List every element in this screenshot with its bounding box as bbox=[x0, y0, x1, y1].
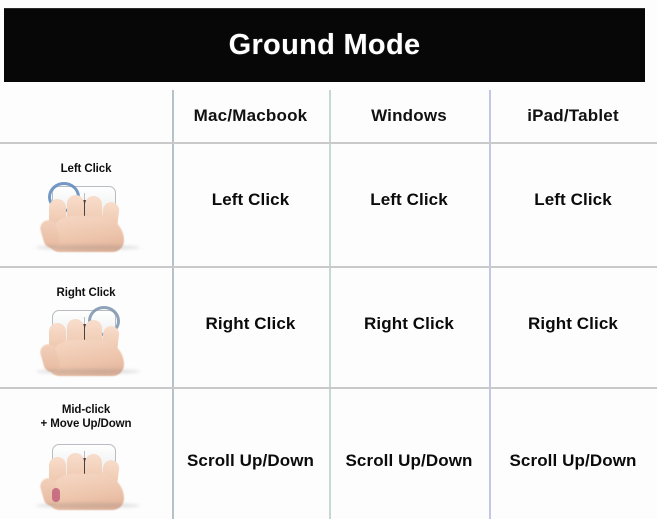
cell-mac: Left Click bbox=[172, 144, 329, 266]
hand-on-mouse-middle-button-icon bbox=[26, 438, 146, 508]
page-title: Ground Mode bbox=[229, 29, 421, 62]
column-header-gesture bbox=[0, 90, 172, 142]
cell-ipad: Scroll Up/Down bbox=[489, 389, 657, 519]
cell-mac: Scroll Up/Down bbox=[172, 389, 329, 519]
hand-shape bbox=[44, 318, 128, 374]
title-banner: Ground Mode bbox=[4, 8, 645, 82]
table-header-row: Mac/Macbook Windows iPad/Tablet bbox=[0, 90, 657, 142]
table-row: Left Click Left Click Left Clic bbox=[0, 144, 657, 266]
gesture-label: Mid-click + Move Up/Down bbox=[41, 403, 132, 432]
column-header-windows: Windows bbox=[329, 90, 489, 142]
cell-mac: Right Click bbox=[172, 268, 329, 387]
cell-windows: Left Click bbox=[329, 144, 489, 266]
hand-shape bbox=[44, 194, 128, 250]
cell-ipad: Right Click bbox=[489, 268, 657, 387]
table-row: Right Click Right Click Right C bbox=[0, 268, 657, 387]
gesture-cell: Left Click bbox=[0, 144, 172, 266]
hand-on-mouse-right-button-icon bbox=[26, 304, 146, 374]
scroll-direction-marker-icon bbox=[52, 488, 60, 502]
cell-windows: Right Click bbox=[329, 268, 489, 387]
column-header-mac: Mac/Macbook bbox=[172, 90, 329, 142]
hand-shape bbox=[44, 452, 128, 508]
cell-ipad: Left Click bbox=[489, 144, 657, 266]
gesture-label: Left Click bbox=[61, 162, 112, 176]
gesture-cell: Mid-click + Move Up/Down bbox=[0, 389, 172, 519]
cell-windows: Scroll Up/Down bbox=[329, 389, 489, 519]
table-row: Mid-click + Move Up/Down Scroll U bbox=[0, 389, 657, 519]
hand-on-mouse-left-button-icon bbox=[26, 180, 146, 250]
gesture-cell: Right Click bbox=[0, 268, 172, 387]
gesture-label: Right Click bbox=[57, 286, 116, 300]
ground-mode-reference-table: Ground Mode Mac/Macbook Windows iPad/Tab… bbox=[0, 0, 657, 519]
column-header-ipad: iPad/Tablet bbox=[489, 90, 657, 142]
illustration-shadow bbox=[36, 503, 140, 508]
